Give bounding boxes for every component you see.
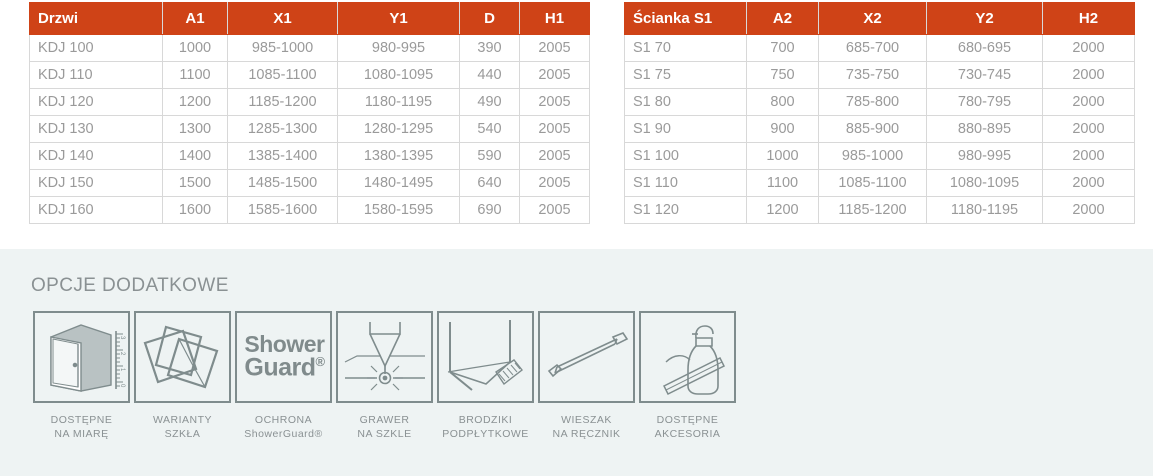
cell-x1: 1085-1100 (228, 62, 338, 89)
svg-text:2: 2 (119, 352, 125, 356)
cell-y2: 1180-1195 (927, 197, 1043, 224)
option-caption: WARIANTY SZKŁA (134, 413, 231, 441)
options-icon-row: 3 2 1 0 DOSTĘPNE NA MIARĘ (33, 311, 736, 441)
cell-a2: 1200 (747, 197, 819, 224)
shower-tray-icon (437, 311, 534, 403)
cell-model: KDJ 120 (30, 89, 163, 116)
cell-y2: 780-795 (927, 89, 1043, 116)
caption-line-1: GRAWER (360, 414, 410, 426)
caption-line-1: OCHRONA (255, 414, 312, 426)
cell-d: 440 (460, 62, 520, 89)
col-header-h1: H1 (520, 3, 590, 35)
cell-a2: 1000 (747, 143, 819, 170)
spec-sheet-page: Drzwi A1 X1 Y1 D H1 KDJ 100 1000 985-100… (0, 0, 1153, 476)
cell-y1: 1280-1295 (338, 116, 460, 143)
col-header-drzwi: Drzwi (30, 3, 163, 35)
option-item-accessories[interactable]: DOSTĘPNE AKCESORIA (639, 311, 736, 441)
option-caption: WIESZAK NA RĘCZNIK (538, 413, 635, 441)
caption-line-1: DOSTĘPNE (51, 414, 113, 426)
cell-x1: 1485-1500 (228, 170, 338, 197)
cell-model: S1 110 (625, 170, 747, 197)
cell-h2: 2000 (1043, 116, 1135, 143)
caption-line-1: WARIANTY (153, 414, 212, 426)
cell-a1: 1200 (163, 89, 228, 116)
cell-h2: 2000 (1043, 35, 1135, 62)
col-header-scianka-s1: Ścianka S1 (625, 3, 747, 35)
cell-d: 590 (460, 143, 520, 170)
caption-line-2: ShowerGuard® (235, 427, 332, 441)
showerguard-logo-line2: Guard (244, 353, 315, 381)
cell-a1: 1600 (163, 197, 228, 224)
table-row: KDJ 140 1400 1385-1400 1380-1395 590 200… (30, 143, 590, 170)
col-header-y2: Y2 (927, 3, 1043, 35)
glass-sheets-icon (134, 311, 231, 403)
cell-x1: 1585-1600 (228, 197, 338, 224)
cell-model: KDJ 140 (30, 143, 163, 170)
cell-h2: 2000 (1043, 89, 1135, 116)
tables-zone: Drzwi A1 X1 Y1 D H1 KDJ 100 1000 985-100… (0, 0, 1153, 248)
cell-x2: 985-1000 (819, 143, 927, 170)
svg-text:0: 0 (119, 384, 125, 388)
cell-a1: 1000 (163, 35, 228, 62)
table-row: KDJ 110 1100 1085-1100 1080-1095 440 200… (30, 62, 590, 89)
cell-h1: 2005 (520, 170, 590, 197)
col-header-x1: X1 (228, 3, 338, 35)
table-header-row: Drzwi A1 X1 Y1 D H1 (30, 3, 590, 35)
cell-model: KDJ 130 (30, 116, 163, 143)
cell-model: KDJ 110 (30, 62, 163, 89)
caption-line-1: BRODZIKI (459, 414, 513, 426)
cell-d: 390 (460, 35, 520, 62)
cell-x1: 1385-1400 (228, 143, 338, 170)
cell-y1: 1580-1595 (338, 197, 460, 224)
cell-model: KDJ 150 (30, 170, 163, 197)
option-item-glass-variants[interactable]: WARIANTY SZKŁA (134, 311, 231, 441)
cell-model: S1 120 (625, 197, 747, 224)
additional-options-panel: OPCJE DODATKOWE (0, 249, 1153, 476)
spray-bottle-squeegee-icon (639, 311, 736, 403)
cell-a2: 700 (747, 35, 819, 62)
wall-table-body: S1 70 700 685-700 680-695 2000 S1 75 750… (625, 35, 1135, 224)
doors-dimensions-table: Drzwi A1 X1 Y1 D H1 KDJ 100 1000 985-100… (29, 2, 590, 224)
doors-table-body: KDJ 100 1000 985-1000 980-995 390 2005 K… (30, 35, 590, 224)
svg-text:1: 1 (119, 368, 125, 372)
col-header-a1: A1 (163, 3, 228, 35)
options-section-title: OPCJE DODATKOWE (31, 275, 229, 297)
cell-h2: 2000 (1043, 197, 1135, 224)
cell-h2: 2000 (1043, 62, 1135, 89)
col-header-h2: H2 (1043, 3, 1135, 35)
svg-text:3: 3 (119, 336, 125, 340)
laser-engraver-icon (336, 311, 433, 403)
cell-y1: 980-995 (338, 35, 460, 62)
cell-y2: 880-895 (927, 116, 1043, 143)
table-row: S1 100 1000 985-1000 980-995 2000 (625, 143, 1135, 170)
cell-d: 490 (460, 89, 520, 116)
cell-y2: 680-695 (927, 35, 1043, 62)
table-row: KDJ 150 1500 1485-1500 1480-1495 640 200… (30, 170, 590, 197)
cell-y2: 980-995 (927, 143, 1043, 170)
cell-a1: 1400 (163, 143, 228, 170)
cell-model: KDJ 160 (30, 197, 163, 224)
caption-line-2: NA RĘCZNIK (538, 427, 635, 441)
cell-h1: 2005 (520, 116, 590, 143)
cell-model: S1 75 (625, 62, 747, 89)
cell-d: 640 (460, 170, 520, 197)
col-header-x2: X2 (819, 3, 927, 35)
cell-x2: 1085-1100 (819, 170, 927, 197)
cell-a2: 800 (747, 89, 819, 116)
table-row: S1 90 900 885-900 880-895 2000 (625, 116, 1135, 143)
caption-line-1: DOSTĘPNE (657, 414, 719, 426)
cell-a2: 1100 (747, 170, 819, 197)
cell-y1: 1180-1195 (338, 89, 460, 116)
table-row: KDJ 160 1600 1585-1600 1580-1595 690 200… (30, 197, 590, 224)
cell-model: S1 90 (625, 116, 747, 143)
table-row: S1 120 1200 1185-1200 1180-1195 2000 (625, 197, 1135, 224)
cell-h1: 2005 (520, 197, 590, 224)
cell-x1: 1185-1200 (228, 89, 338, 116)
option-caption: DOSTĘPNE AKCESORIA (639, 413, 736, 441)
table-row: KDJ 100 1000 985-1000 980-995 390 2005 (30, 35, 590, 62)
cell-a2: 750 (747, 62, 819, 89)
cell-x2: 885-900 (819, 116, 927, 143)
cell-d: 690 (460, 197, 520, 224)
table-row: S1 70 700 685-700 680-695 2000 (625, 35, 1135, 62)
cell-model: S1 80 (625, 89, 747, 116)
cell-x1: 1285-1300 (228, 116, 338, 143)
caption-line-2: NA MIARĘ (33, 427, 130, 441)
caption-line-2: PODPŁYTKOWE (437, 427, 534, 441)
option-caption: OCHRONA ShowerGuard® (235, 413, 332, 441)
caption-line-1: WIESZAK (561, 414, 612, 426)
option-item-glass-engraving[interactable]: GRAWER NA SZKLE (336, 311, 433, 441)
cell-y2: 1080-1095 (927, 170, 1043, 197)
shower-cabin-ruler-icon: 3 2 1 0 (33, 311, 130, 403)
option-caption: GRAWER NA SZKLE (336, 413, 433, 441)
cell-a1: 1300 (163, 116, 228, 143)
col-header-y1: Y1 (338, 3, 460, 35)
cell-x1: 985-1000 (228, 35, 338, 62)
option-caption: BRODZIKI PODPŁYTKOWE (437, 413, 534, 441)
cell-h2: 2000 (1043, 170, 1135, 197)
option-item-showerguard[interactable]: Shower Guard® OCHRONA ShowerGuard® (235, 311, 332, 441)
cell-x2: 685-700 (819, 35, 927, 62)
table-row: S1 110 1100 1085-1100 1080-1095 2000 (625, 170, 1135, 197)
cell-y1: 1480-1495 (338, 170, 460, 197)
cell-model: S1 100 (625, 143, 747, 170)
table-row: S1 75 750 735-750 730-745 2000 (625, 62, 1135, 89)
cell-model: KDJ 100 (30, 35, 163, 62)
cell-h1: 2005 (520, 143, 590, 170)
table-row: S1 80 800 785-800 780-795 2000 (625, 89, 1135, 116)
cell-a1: 1500 (163, 170, 228, 197)
showerguard-logo-icon: Shower Guard® (235, 311, 332, 403)
cell-model: S1 70 (625, 35, 747, 62)
towel-rail-icon (538, 311, 635, 403)
cell-x2: 1185-1200 (819, 197, 927, 224)
caption-line-2: NA SZKLE (336, 427, 433, 441)
table-row: KDJ 130 1300 1285-1300 1280-1295 540 200… (30, 116, 590, 143)
caption-line-2: AKCESORIA (639, 427, 736, 441)
cell-h2: 2000 (1043, 143, 1135, 170)
cell-a2: 900 (747, 116, 819, 143)
cell-h1: 2005 (520, 89, 590, 116)
option-item-made-to-measure[interactable]: 3 2 1 0 DOSTĘPNE NA MIARĘ (33, 311, 130, 441)
cell-x2: 785-800 (819, 89, 927, 116)
cell-h1: 2005 (520, 35, 590, 62)
wall-dimensions-table: Ścianka S1 A2 X2 Y2 H2 S1 70 700 685-700… (624, 2, 1135, 224)
cell-y1: 1080-1095 (338, 62, 460, 89)
caption-line-2: SZKŁA (134, 427, 231, 441)
col-header-a2: A2 (747, 3, 819, 35)
cell-d: 540 (460, 116, 520, 143)
option-item-shower-trays[interactable]: BRODZIKI PODPŁYTKOWE (437, 311, 534, 441)
option-caption: DOSTĘPNE NA MIARĘ (33, 413, 130, 441)
registered-mark-icon: ® (316, 354, 325, 369)
cell-h1: 2005 (520, 62, 590, 89)
cell-a1: 1100 (163, 62, 228, 89)
cell-x2: 735-750 (819, 62, 927, 89)
table-header-row: Ścianka S1 A2 X2 Y2 H2 (625, 3, 1135, 35)
option-item-towel-rail[interactable]: WIESZAK NA RĘCZNIK (538, 311, 635, 441)
table-row: KDJ 120 1200 1185-1200 1180-1195 490 200… (30, 89, 590, 116)
cell-y1: 1380-1395 (338, 143, 460, 170)
col-header-d: D (460, 3, 520, 35)
cell-y2: 730-745 (927, 62, 1043, 89)
